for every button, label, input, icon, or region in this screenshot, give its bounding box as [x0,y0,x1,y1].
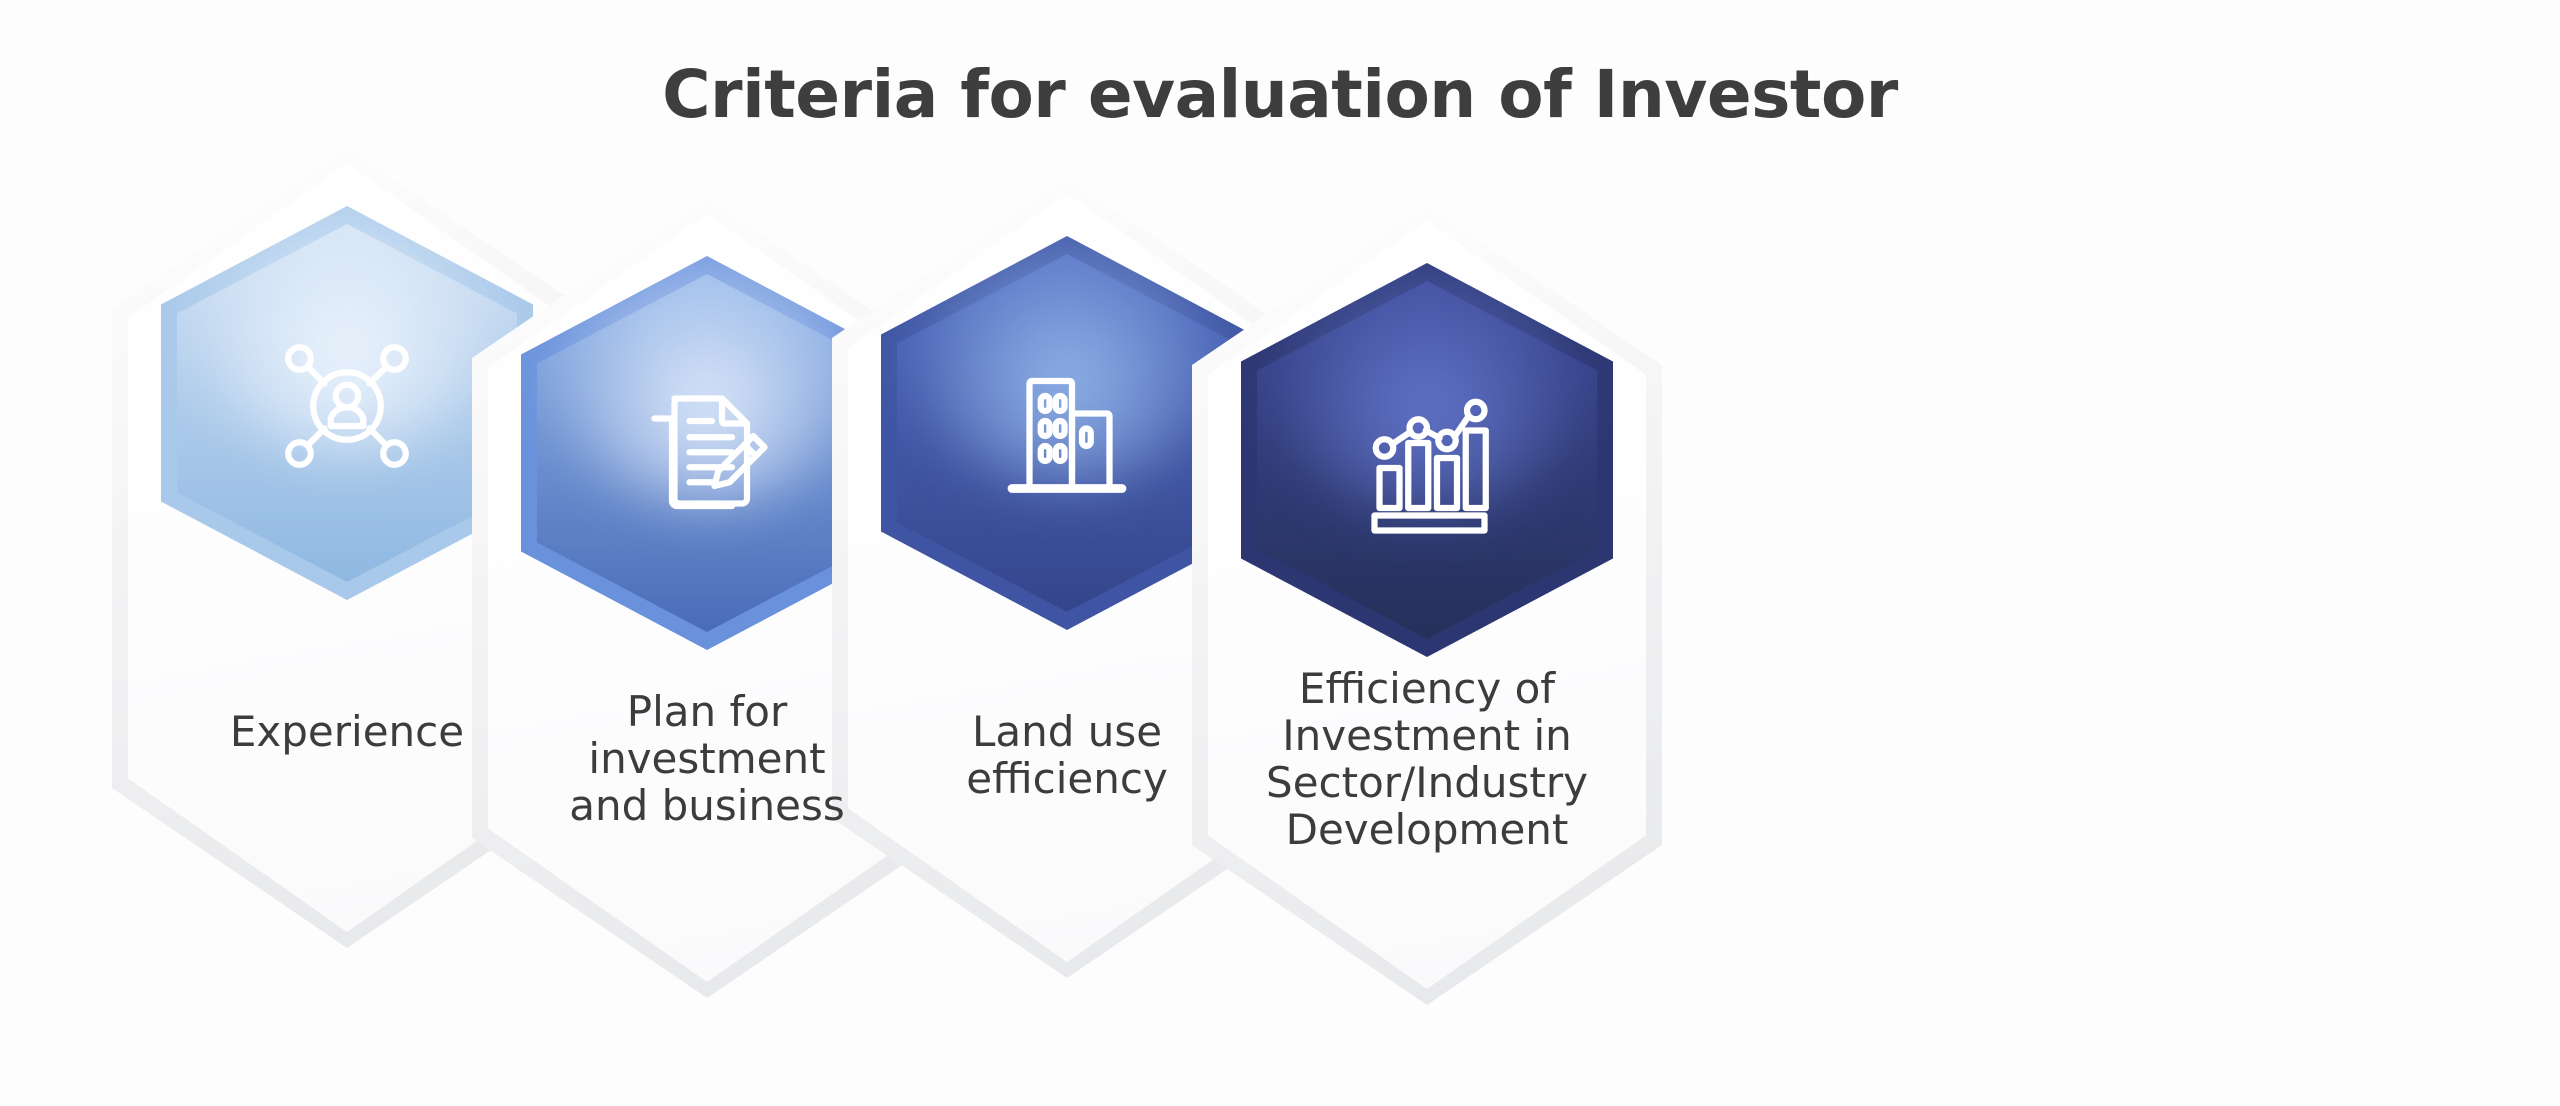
hexagon-badge [1241,263,1613,657]
criteria-label: Efficiency of Investment in Sector/Indus… [1222,665,1632,853]
bar-chart-growth-icon [1352,388,1502,538]
criteria-label: Experience [142,708,552,755]
criteria-card-efficiency-of-investment-in-sector-industry-development[interactable]: Efficiency of Investment in Sector/Indus… [1192,205,1662,1005]
buildings-icon [992,361,1142,511]
criteria-label: Land use efficiency [862,708,1272,802]
network-person-icon [272,331,422,481]
criteria-label: Plan for investment and business [502,688,912,829]
criteria-card-list: Experience Plan for investment and busin… [0,0,2560,1106]
document-pen-icon [632,381,782,531]
